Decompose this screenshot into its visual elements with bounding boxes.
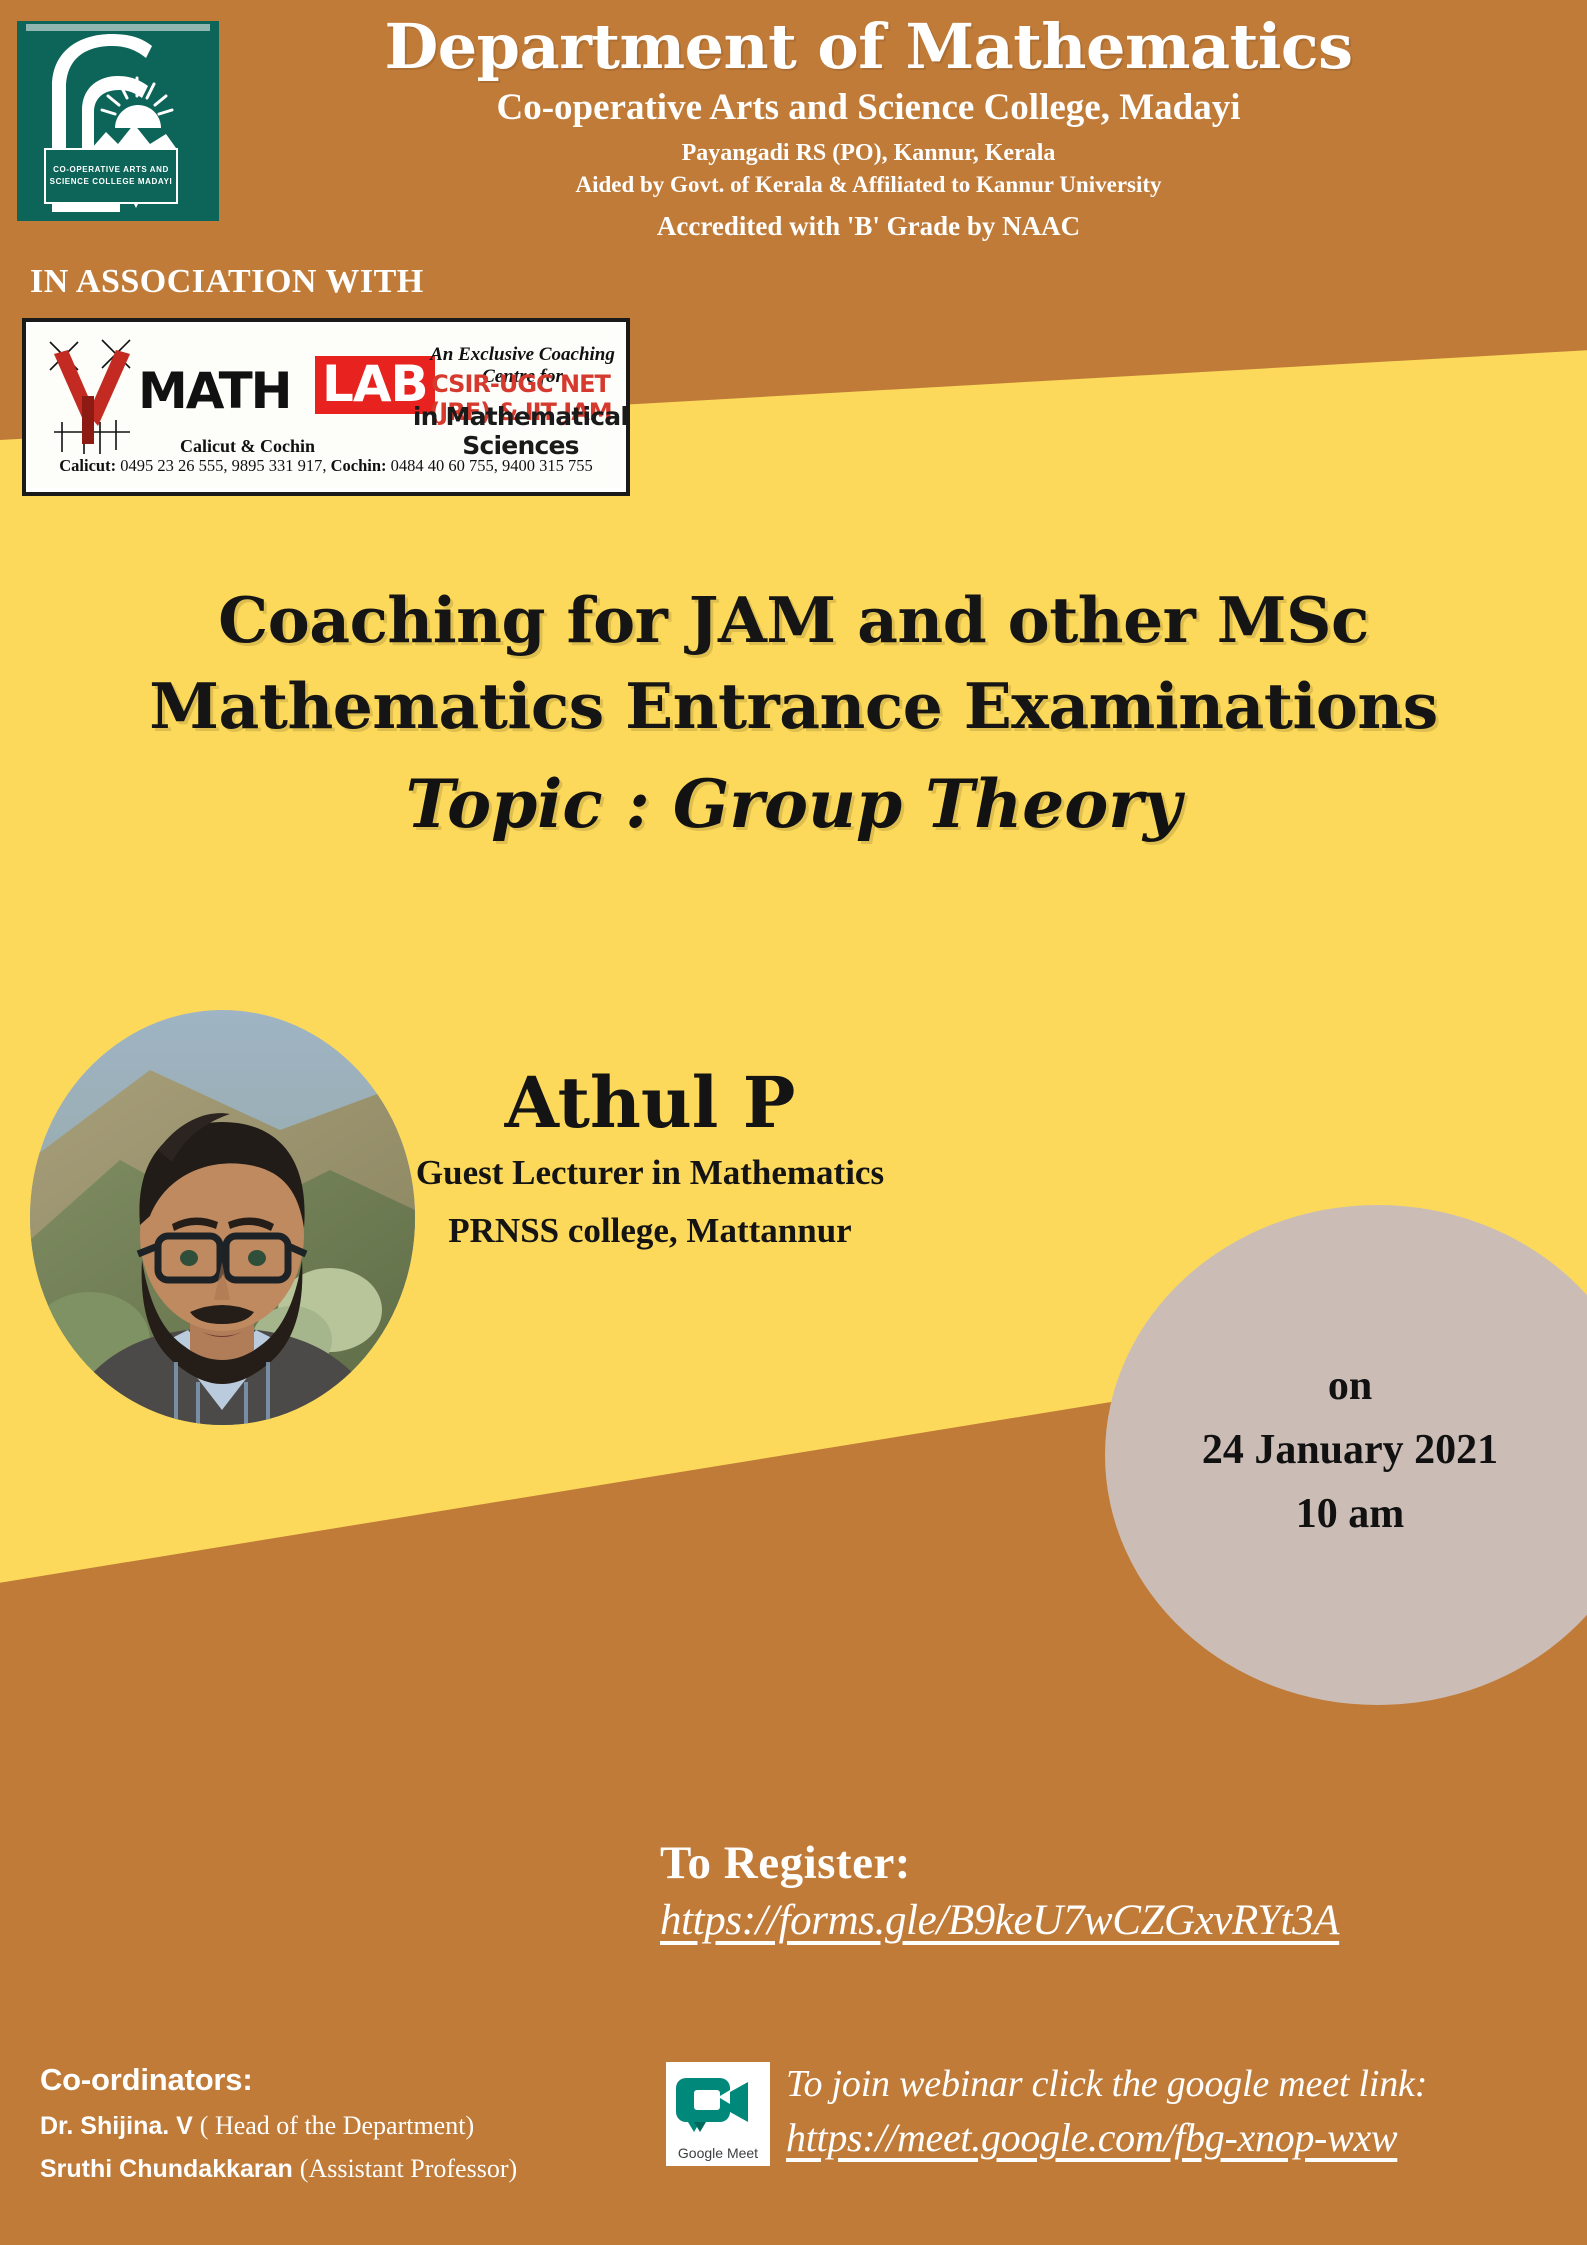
logo-caption-line1: CO-OPERATIVE ARTS AND xyxy=(53,164,169,176)
google-meet-block: Google Meet To join webinar click the go… xyxy=(666,2062,1427,2166)
event-title: Coaching for JAM and other MSc Mathemati… xyxy=(0,578,1587,749)
mathlab-calicut-numbers: 0495 23 26 555, 9895 331 917, xyxy=(120,456,326,475)
event-title-line1: Coaching for JAM and other MSc xyxy=(60,578,1527,664)
association-label: IN ASSOCIATION WITH xyxy=(30,263,424,301)
college-accreditation: Accredited with 'B' Grade by NAAC xyxy=(240,209,1497,245)
mathlab-phones: Calicut: 0495 23 26 555, 9895 331 917, C… xyxy=(30,456,622,476)
speaker-name: Athul P xyxy=(270,1068,1030,1138)
mathlab-logo-card: MATH LAB Calicut & Cochin An Exclusive C… xyxy=(22,318,630,496)
mathlab-cochin-numbers: 0484 40 60 755, 9400 315 755 xyxy=(391,456,593,475)
coordinator-name: Sruthi Chundakkaran xyxy=(40,2155,293,2183)
college-address: Payangadi RS (PO), Kannur, Kerala xyxy=(240,138,1497,170)
event-datetime: on 24 January 2021 10 am xyxy=(1135,1355,1565,1546)
event-on-label: on xyxy=(1135,1355,1565,1419)
event-time: 10 am xyxy=(1135,1483,1565,1547)
mathlab-inner: MATH LAB Calicut & Cochin An Exclusive C… xyxy=(30,326,622,488)
speaker-role: Guest Lecturer in Mathematics xyxy=(270,1150,1030,1196)
college-logo: CO-OPERATIVE ARTS AND SCIENCE COLLEGE MA… xyxy=(20,24,216,218)
mathlab-math-word: MATH xyxy=(138,362,291,420)
event-date: 24 January 2021 xyxy=(1135,1419,1565,1483)
meet-link[interactable]: https://meet.google.com/fbg-xnop-wxw xyxy=(786,2114,1427,2161)
coordinator-name: Dr. Shijina. V xyxy=(40,2112,193,2140)
college-name: Co-operative Arts and Science College, M… xyxy=(240,86,1497,130)
coordinators-title: Co-ordinators: xyxy=(40,2062,517,2098)
logo-caption-line2: SCIENCE COLLEGE MADAYI xyxy=(50,176,173,188)
speaker-affiliation: PRNSS college, Mattannur xyxy=(270,1208,1030,1254)
header-text-block: Department of Mathematics Co-operative A… xyxy=(240,14,1497,245)
google-meet-text: To join webinar click the google meet li… xyxy=(786,2062,1427,2161)
registration-block: To Register: https://forms.gle/B9keU7wCZ… xyxy=(660,1836,1339,1945)
coordinators-block: Co-ordinators: Dr. Shijina. V ( Head of … xyxy=(40,2062,517,2184)
video-camera-icon xyxy=(666,2062,770,2142)
event-poster: CO-OPERATIVE ARTS AND SCIENCE COLLEGE MA… xyxy=(0,0,1587,2245)
event-title-line2: Mathematics Entrance Examinations xyxy=(60,664,1527,750)
coordinator-designation: (Assistant Professor) xyxy=(300,2154,517,2183)
mathlab-cochin-label: Cochin: xyxy=(331,456,387,475)
coordinator-designation: ( Head of the Department) xyxy=(200,2111,474,2140)
registration-link[interactable]: https://forms.gle/B9keU7wCZGxvRYt3A xyxy=(660,1896,1339,1945)
coordinator-row: Dr. Shijina. V ( Head of the Department) xyxy=(40,2111,517,2141)
meet-instruction: To join webinar click the google meet li… xyxy=(786,2062,1427,2106)
college-affiliation: Aided by Govt. of Kerala & Affiliated to… xyxy=(240,170,1497,200)
coordinator-row: Sruthi Chundakkaran (Assistant Professor… xyxy=(40,2154,517,2184)
register-label: To Register: xyxy=(660,1836,1339,1890)
event-topic: Topic : Group Theory xyxy=(0,765,1587,843)
department-title: Department of Mathematics xyxy=(240,14,1497,80)
mathlab-field: in Mathematical Sciences xyxy=(408,402,630,460)
google-meet-logo: Google Meet xyxy=(666,2062,770,2166)
logo-caption: CO-OPERATIVE ARTS AND SCIENCE COLLEGE MA… xyxy=(44,148,178,204)
mathlab-cities: Calicut & Cochin xyxy=(180,436,315,457)
mathlab-calicut-label: Calicut: xyxy=(59,456,116,475)
speaker-info: Athul P Guest Lecturer in Mathematics PR… xyxy=(270,1068,1030,1254)
google-meet-label: Google Meet xyxy=(666,2145,770,2161)
